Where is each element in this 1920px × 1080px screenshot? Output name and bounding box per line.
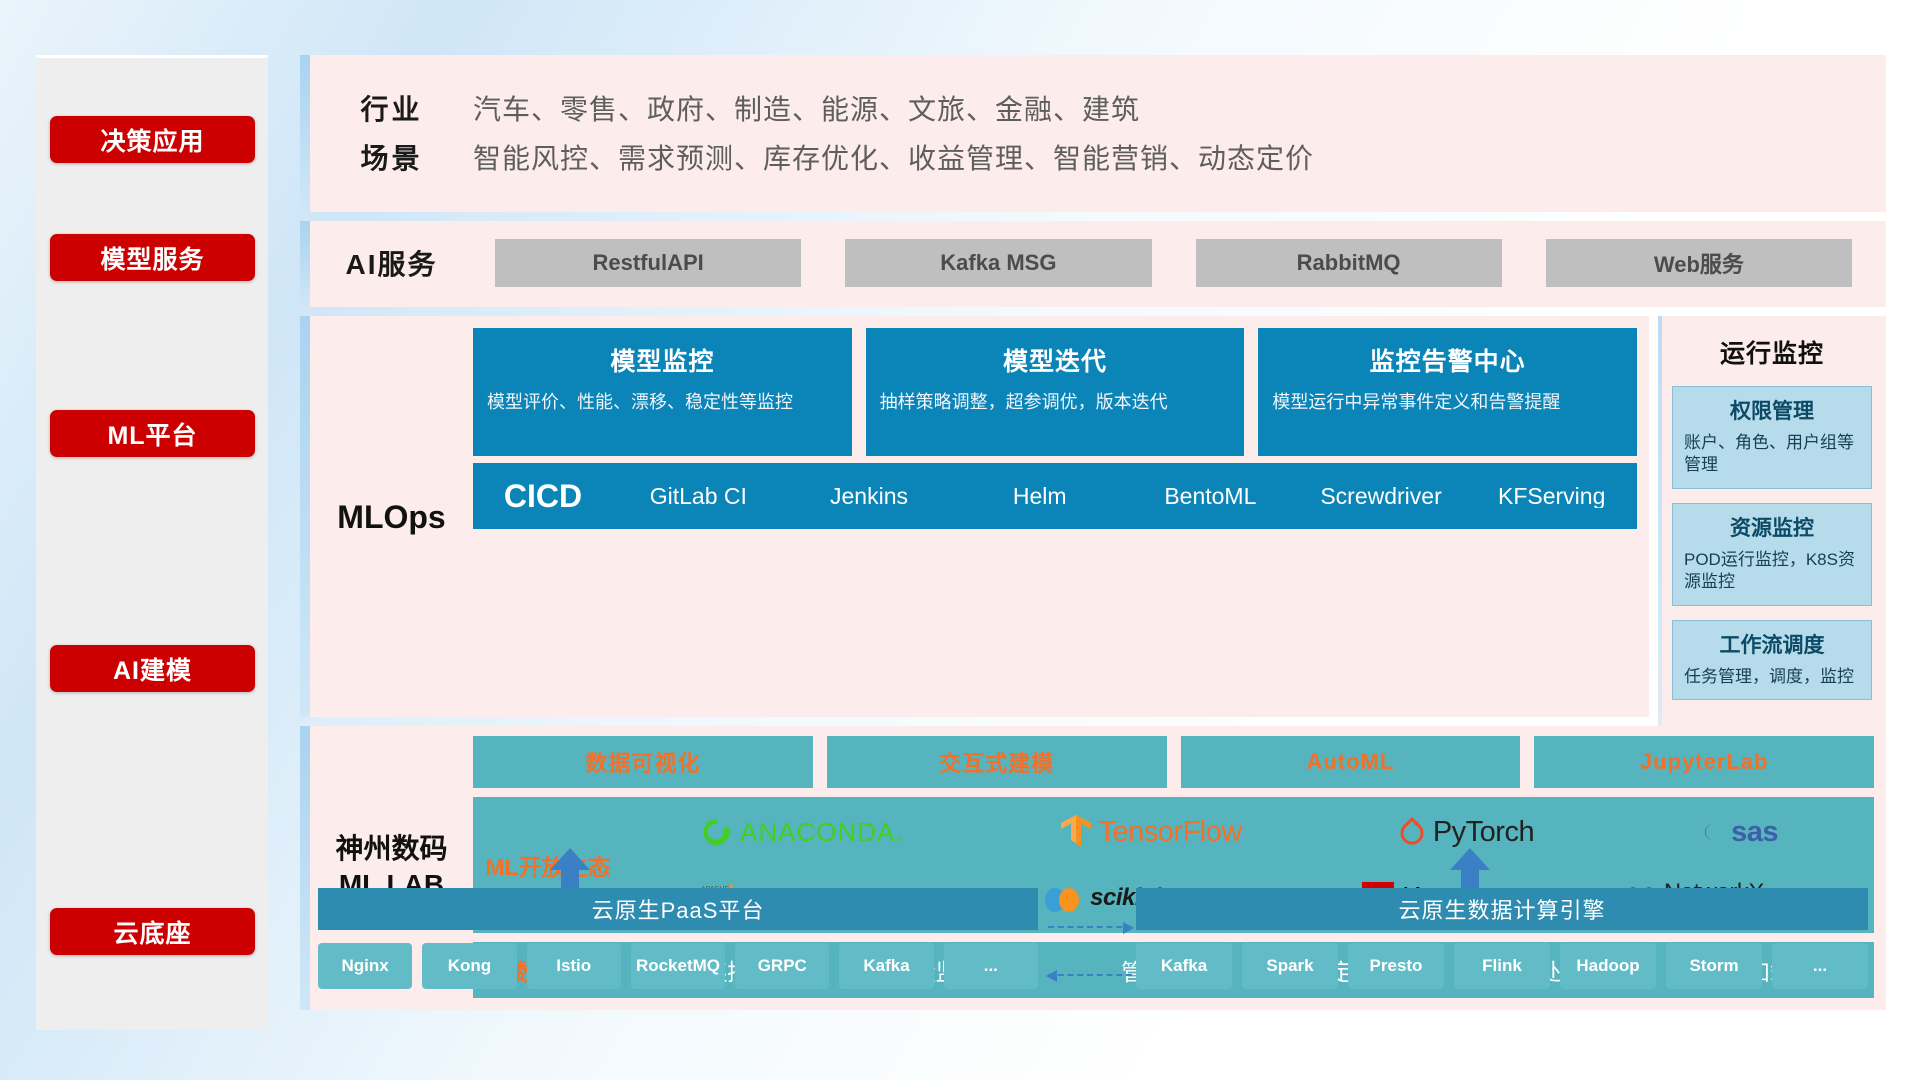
mlops-card-list: 模型监控 模型评价、性能、漂移、稳定性等监控 模型迭代 抽样策略调整，超参调优，… (473, 328, 1637, 456)
main-column: 行业 汽车、零售、政府、制造、能源、文旅、金融、建筑 场景 智能风控、需求预测、… (300, 55, 1886, 1019)
ml-lab-tool-list: 数据可视化 交互式建模 AutoML JupyterLab (473, 736, 1874, 788)
paas-chip-istio[interactable]: Istio (527, 943, 621, 989)
cicd-title: CICD (473, 478, 613, 515)
logo-pytorch: PyTorch (1398, 816, 1534, 849)
ai-services-key: AI服务 (310, 243, 473, 283)
section-decision-apps: 行业 汽车、零售、政府、制造、能源、文旅、金融、建筑 场景 智能风控、需求预测、… (300, 55, 1886, 212)
cicd-item-helm[interactable]: Helm (954, 484, 1125, 508)
card-title: 权限管理 (1684, 395, 1860, 425)
sas-icon (1690, 817, 1724, 847)
tool-automl[interactable]: AutoML (1181, 736, 1521, 788)
scenario-row: 场景 智能风控、需求预测、库存优化、收益管理、智能营销、动态定价 (310, 137, 1886, 177)
card-desc: 模型运行中异常事件定义和告警提醒 (1272, 390, 1623, 415)
rail-item-model-service[interactable]: 模型服务 (50, 234, 255, 281)
ml-lab-key-line1: 神州数码 (335, 831, 447, 867)
ai-services-chip-list: RestfulAPI Kafka MSG RabbitMQ Web服务 (473, 239, 1886, 287)
cloud-paas-title: 云原生PaaS平台 (318, 888, 1038, 930)
paas-chip-rocketmq[interactable]: RocketMQ (631, 943, 725, 989)
mlops-card-model-monitoring[interactable]: 模型监控 模型评价、性能、漂移、稳定性等监控 (473, 328, 852, 456)
cicd-item-jenkins[interactable]: Jenkins (784, 484, 955, 508)
compute-chip-presto[interactable]: Presto (1348, 943, 1444, 989)
compute-chip-flink[interactable]: Flink (1454, 943, 1550, 989)
layer-rail: 决策应用 模型服务 ML平台 AI建模 云底座 (36, 55, 268, 1030)
logo-text: sas (1731, 816, 1778, 849)
logo-text: TensorFlow (1099, 816, 1242, 849)
rail-item-ai-modeling[interactable]: AI建模 (50, 645, 255, 692)
tool-data-visualization[interactable]: 数据可视化 (473, 736, 813, 788)
service-chip-web[interactable]: Web服务 (1546, 239, 1852, 287)
cicd-item-screwdriver[interactable]: Screwdriver (1296, 484, 1467, 508)
pytorch-icon (1398, 816, 1426, 848)
logo-anaconda: ANACONDA. (701, 816, 904, 848)
logo-row-1: ANACONDA. TensorFlow (623, 801, 1856, 863)
section-cloud-base: 云原生PaaS平台 Nginx Kong Istio RocketMQ GRPC… (300, 888, 1886, 1033)
rail-item-cloud-base[interactable]: 云底座 (50, 908, 255, 955)
paas-chip-more[interactable]: ... (944, 943, 1038, 989)
compute-chip-storm[interactable]: Storm (1666, 943, 1762, 989)
section-runtime-monitoring: 运行监控 权限管理 账户、角色、用户组等管理 资源监控 POD运行监控，K8S资… (1658, 316, 1886, 726)
card-title: 模型迭代 (880, 342, 1231, 378)
compute-chip-kafka[interactable]: Kafka (1136, 943, 1232, 989)
mlops-card-model-iteration[interactable]: 模型迭代 抽样策略调整，超参调优，版本迭代 (866, 328, 1245, 456)
cloud-compute-title: 云原生数据计算引擎 (1136, 888, 1868, 930)
logo-text: ANACONDA. (740, 817, 904, 848)
scenario-value: 智能风控、需求预测、库存优化、收益管理、智能营销、动态定价 (473, 137, 1314, 177)
arrow-up-compute (1450, 848, 1490, 892)
card-title: 资源监控 (1684, 512, 1860, 542)
cloud-compute-group: 云原生数据计算引擎 Kafka Spark Presto Flink Hadoo… (1136, 888, 1868, 989)
section-ml-platform: MLOps 模型监控 模型评价、性能、漂移、稳定性等监控 模型迭代 抽样策略调整… (300, 316, 1886, 726)
card-title: 监控告警中心 (1272, 342, 1623, 378)
mlops-content: 模型监控 模型评价、性能、漂移、稳定性等监控 模型迭代 抽样策略调整，超参调优，… (473, 328, 1649, 707)
monitoring-card-permission[interactable]: 权限管理 账户、角色、用户组等管理 (1672, 386, 1872, 489)
paas-chip-kafka[interactable]: Kafka (839, 943, 933, 989)
card-desc: 任务管理，调度，监控 (1684, 666, 1860, 688)
mlops-card-alert-center[interactable]: 监控告警中心 模型运行中异常事件定义和告警提醒 (1258, 328, 1637, 456)
tool-interactive-modeling[interactable]: 交互式建模 (827, 736, 1167, 788)
logo-tensorflow: TensorFlow (1060, 814, 1242, 850)
rail-item-decision-apps[interactable]: 决策应用 (50, 116, 255, 163)
service-chip-restfulapi[interactable]: RestfulAPI (495, 239, 801, 287)
dashed-arrow-right (1048, 926, 1132, 928)
cicd-item-bentoml[interactable]: BentoML (1125, 484, 1296, 508)
paas-chip-grpc[interactable]: GRPC (735, 943, 829, 989)
rail-label: ML平台 (107, 416, 197, 452)
monitoring-title: 运行监控 (1672, 334, 1872, 370)
cloud-paas-chip-list: Nginx Kong Istio RocketMQ GRPC Kafka ... (318, 943, 1038, 989)
mlops-key: MLOps (310, 328, 473, 707)
industry-value: 汽车、零售、政府、制造、能源、文旅、金融、建筑 (473, 88, 1140, 128)
paas-chip-nginx[interactable]: Nginx (318, 943, 412, 989)
cloud-paas-group: 云原生PaaS平台 Nginx Kong Istio RocketMQ GRPC… (318, 888, 1038, 989)
paas-chip-kong[interactable]: Kong (422, 943, 516, 989)
rail-item-ml-platform[interactable]: ML平台 (50, 410, 255, 457)
card-desc: 模型评价、性能、漂移、稳定性等监控 (487, 390, 838, 415)
cloud-compute-chip-list: Kafka Spark Presto Flink Hadoop Storm ..… (1136, 943, 1868, 989)
compute-chip-hadoop[interactable]: Hadoop (1560, 943, 1656, 989)
service-chip-kafka-msg[interactable]: Kafka MSG (845, 239, 1151, 287)
arrow-up-paas (550, 848, 590, 892)
cicd-bar: CICD GitLab CI Jenkins Helm BentoML Scre… (473, 463, 1637, 529)
card-desc: POD运行监控，K8S资源监控 (1684, 549, 1860, 594)
rail-label: AI建模 (113, 651, 192, 687)
rail-label: 模型服务 (100, 240, 204, 276)
diagram-canvas: 决策应用 模型服务 ML平台 AI建模 云底座 行业 汽车、零售、政府、制造、能… (0, 0, 1920, 1080)
rail-label: 云底座 (113, 914, 191, 950)
section-ai-services: AI服务 RestfulAPI Kafka MSG RabbitMQ Web服务 (300, 221, 1886, 307)
compute-chip-spark[interactable]: Spark (1242, 943, 1338, 989)
scenario-key: 场景 (310, 137, 473, 177)
cicd-item-gitlab-ci[interactable]: GitLab CI (613, 484, 784, 508)
industry-key: 行业 (310, 88, 473, 128)
monitoring-card-resource[interactable]: 资源监控 POD运行监控，K8S资源监控 (1672, 503, 1872, 606)
monitoring-card-workflow[interactable]: 工作流调度 任务管理，调度，监控 (1672, 620, 1872, 700)
compute-chip-more[interactable]: ... (1772, 943, 1868, 989)
tensorflow-icon (1060, 814, 1092, 850)
rail-label: 决策应用 (100, 122, 204, 158)
anaconda-icon (701, 816, 733, 848)
tool-jupyterlab[interactable]: JupyterLab (1534, 736, 1874, 788)
card-desc: 账户、角色、用户组等管理 (1684, 432, 1860, 477)
card-title: 工作流调度 (1684, 629, 1860, 659)
service-chip-rabbitmq[interactable]: RabbitMQ (1196, 239, 1502, 287)
card-title: 模型监控 (487, 342, 838, 378)
cicd-item-kfserving[interactable]: KFServing (1466, 484, 1637, 508)
logo-text: PyTorch (1433, 816, 1534, 849)
logo-sas: sas (1690, 816, 1778, 849)
industry-row: 行业 汽车、零售、政府、制造、能源、文旅、金融、建筑 (310, 88, 1886, 128)
bidirectional-link (1048, 908, 1132, 994)
mlops-band: MLOps 模型监控 模型评价、性能、漂移、稳定性等监控 模型迭代 抽样策略调整… (300, 316, 1649, 717)
card-desc: 抽样策略调整，超参调优，版本迭代 (880, 390, 1231, 415)
cicd-item-list: GitLab CI Jenkins Helm BentoML Screwdriv… (613, 484, 1637, 508)
ml-ecosystem-label: ML开放生态 (473, 848, 623, 882)
dashed-arrow-left (1048, 974, 1132, 976)
